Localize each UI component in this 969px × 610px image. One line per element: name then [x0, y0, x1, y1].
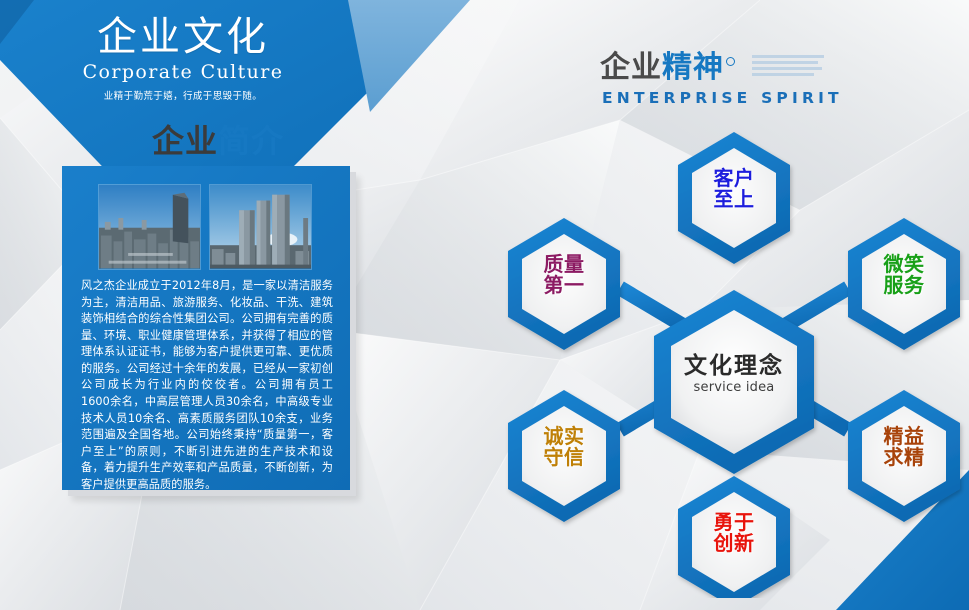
spirit-title-part-1: 企业	[600, 50, 662, 85]
hexagon-pursue-excellence[interactable]	[848, 390, 960, 522]
hexagon-honesty-integrity[interactable]	[508, 390, 620, 522]
spirit-title-part-2: 精神	[662, 50, 724, 85]
center-label-en: service idea	[644, 380, 824, 395]
center-label-cn: 文化理念	[644, 346, 824, 380]
spirit-title-en: ENTERPRISE SPIRIT	[602, 89, 910, 107]
hexagon-brave-innovation[interactable]	[678, 476, 790, 598]
banner-subtitle: 业精于勤荒于嬉，行成于思毁于随。	[38, 88, 328, 102]
banner-title-en: Corporate Culture	[38, 61, 328, 83]
hexagon-customer-first[interactable]	[678, 132, 790, 264]
decorative-text-lines-icon	[752, 55, 826, 85]
page-title-part-dark: 企业	[152, 122, 218, 160]
page-title-part-blue: 简介	[218, 122, 284, 160]
hexagon-smile-service[interactable]	[848, 218, 960, 350]
intro-paragraph: 风之杰企业成立于2012年8月，是一家以清洁服务为主，清洁用品、旅游服务、化妆品…	[81, 278, 333, 494]
poster-canvas: 企业文化 Corporate Culture 业精于勤荒于嬉，行成于思毁于随。 …	[0, 0, 969, 610]
spirit-title-cn: 企业精神	[600, 53, 910, 83]
banner-text-group: 企业文化 Corporate Culture 业精于勤荒于嬉，行成于思毁于随。	[38, 16, 328, 102]
photo-strip	[98, 184, 312, 270]
city-towers-photo-2	[209, 184, 312, 270]
city-skyline-photo-1	[98, 184, 201, 270]
hexagon-quality-first[interactable]	[508, 218, 620, 350]
registered-circle-icon	[726, 57, 735, 66]
culture-hexagon-diagram: 文化理念 service idea 客户 至上 质量 第一 微笑 服务 诚实 守…	[498, 118, 969, 598]
intro-card: 风之杰企业成立于2012年8月，是一家以清洁服务为主，清洁用品、旅游服务、化妆品…	[62, 166, 350, 490]
page-title-company-intro: 企业简介	[152, 116, 284, 162]
spirit-header: 企业精神 ENTERPRISE SPIRIT	[600, 53, 910, 107]
banner-title-cn: 企业文化	[38, 16, 328, 59]
